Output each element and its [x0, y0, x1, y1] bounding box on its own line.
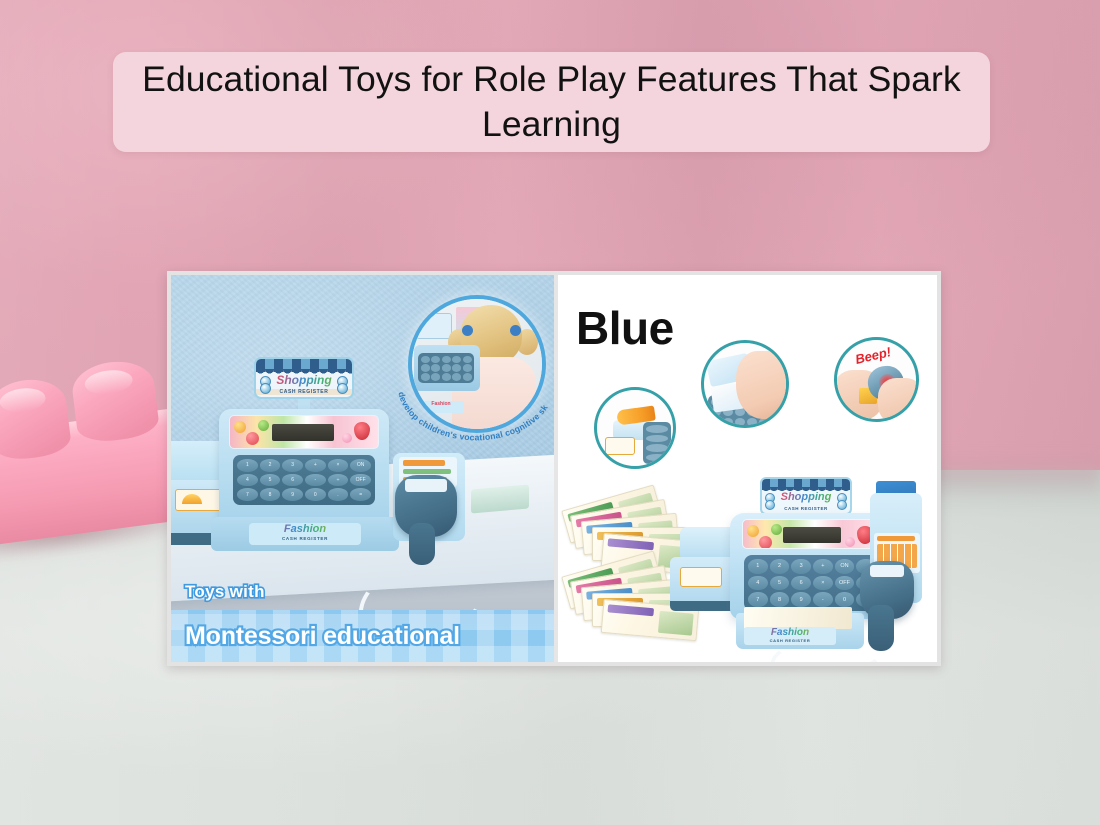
fruit-icon [747, 525, 759, 537]
keypad-key: 7 [748, 592, 768, 607]
fruit-icon [845, 537, 855, 547]
keypad-key: 2 [260, 459, 281, 472]
toy-block-stud [70, 357, 161, 444]
keypad-key: 4 [237, 474, 258, 487]
register-display-panel [742, 519, 882, 549]
keypad-key: 9 [791, 592, 811, 607]
keypad-key: OFF [835, 576, 855, 591]
barcode-scanner-feature-circle: Beep! [834, 337, 919, 422]
shopping-sign: Shopping CASH REGISTER [760, 477, 852, 515]
keypad-key: 1 [237, 459, 258, 472]
accessory-block [471, 484, 529, 513]
shopping-sign: Shopping CASH REGISTER [254, 357, 354, 399]
keypad-key: 0 [305, 488, 326, 501]
fruit-icon [759, 536, 772, 549]
hair-tie [462, 325, 473, 336]
banner-toys-with: Toys with [185, 582, 265, 602]
keypad-key: 4 [748, 576, 768, 591]
keypad-key: 5 [770, 576, 790, 591]
weighing-scale-feature-circle [594, 387, 676, 469]
color-variant-label: Blue [576, 301, 674, 355]
fashion-brand-label: Fashion CASH REGISTER [249, 523, 361, 545]
keypad-key: - [813, 592, 833, 607]
card-swipe-feature-circle [701, 340, 789, 428]
fruit-icon [246, 432, 259, 445]
fruit-icon [258, 420, 269, 431]
banner-montessori-educational: Montessori educational [185, 622, 460, 651]
keypad-key: 7 [237, 488, 258, 501]
keypad-key: ON [835, 559, 855, 574]
keypad-key: + [813, 559, 833, 574]
product-photo-left: Shopping CASH REGISTER 1 [171, 275, 554, 662]
fashion-brand-subtitle: CASH REGISTER [249, 536, 361, 541]
fruit-icon [771, 524, 782, 535]
inset-fashion-label: Fashion [418, 401, 464, 413]
coin-icon [260, 383, 271, 394]
product-photo-right: Blue [558, 275, 937, 662]
keypad-key: 3 [282, 459, 303, 472]
inset-keypad [418, 353, 474, 383]
hand [736, 351, 789, 419]
keypad-key: - [305, 474, 326, 487]
register-display-panel [229, 415, 379, 449]
scale-label-sticker [680, 567, 722, 587]
awning-stripes [762, 479, 850, 490]
keypad-key: OFF [350, 474, 371, 487]
keypad-key: 8 [260, 488, 281, 501]
coin-icon [837, 500, 847, 510]
slide-canvas: Educational Toys for Role Play Features … [0, 0, 1100, 825]
scale-label-sticker [175, 489, 225, 511]
keypad-key: 8 [770, 592, 790, 607]
keypad-key: × [813, 576, 833, 591]
inset-whiteboard [416, 313, 452, 339]
coin-icon [765, 500, 775, 510]
cash-register-body: 1 2 3 + × ON 4 5 6 - ÷ OFF 7 8 9 0 . [219, 409, 389, 529]
coin-icon [337, 383, 348, 394]
awning-stripes [256, 359, 352, 372]
scale-tray [171, 441, 225, 483]
fruit-icon [234, 421, 246, 433]
fashion-brand-text: Fashion [249, 523, 361, 536]
banner-checkered-strip: Montessori educational [171, 610, 554, 662]
keypad-key: × [328, 459, 349, 472]
keypad-key: 6 [282, 474, 303, 487]
keypad-key: 0 [835, 592, 855, 607]
hair-tie [510, 325, 521, 336]
mini-scale-keys [643, 422, 671, 464]
fruit-icon [342, 433, 352, 443]
mini-scale-label [605, 437, 635, 455]
beep-sound-label: Beep! [854, 344, 893, 367]
strawberry-icon [354, 422, 370, 440]
keypad-key: 2 [770, 559, 790, 574]
title-banner: Educational Toys for Role Play Features … [113, 52, 990, 152]
drawer-money [744, 607, 852, 629]
hand [878, 378, 919, 422]
keypad-key: + [305, 459, 326, 472]
lcd-display [783, 527, 841, 543]
keypad-key: . [328, 488, 349, 501]
product-image-card: Shopping CASH REGISTER 1 [167, 271, 941, 666]
lifestyle-inset-circle: Fashion [408, 295, 546, 433]
page-title: Educational Toys for Role Play Features … [135, 57, 968, 148]
keypad-key: ON [350, 459, 371, 472]
register-keypad: 1 2 3 + × ON 4 5 6 - ÷ OFF 7 8 9 0 . [233, 455, 375, 505]
keypad-key: 1 [748, 559, 768, 574]
lcd-display [272, 424, 334, 441]
keypad-key: ÷ [328, 474, 349, 487]
keypad-key: 3 [791, 559, 811, 574]
keypad-key: 9 [282, 488, 303, 501]
pink-toy-block [0, 358, 193, 558]
keypad-key: = [350, 488, 371, 501]
keypad-key: 5 [260, 474, 281, 487]
keypad-key: 6 [791, 576, 811, 591]
